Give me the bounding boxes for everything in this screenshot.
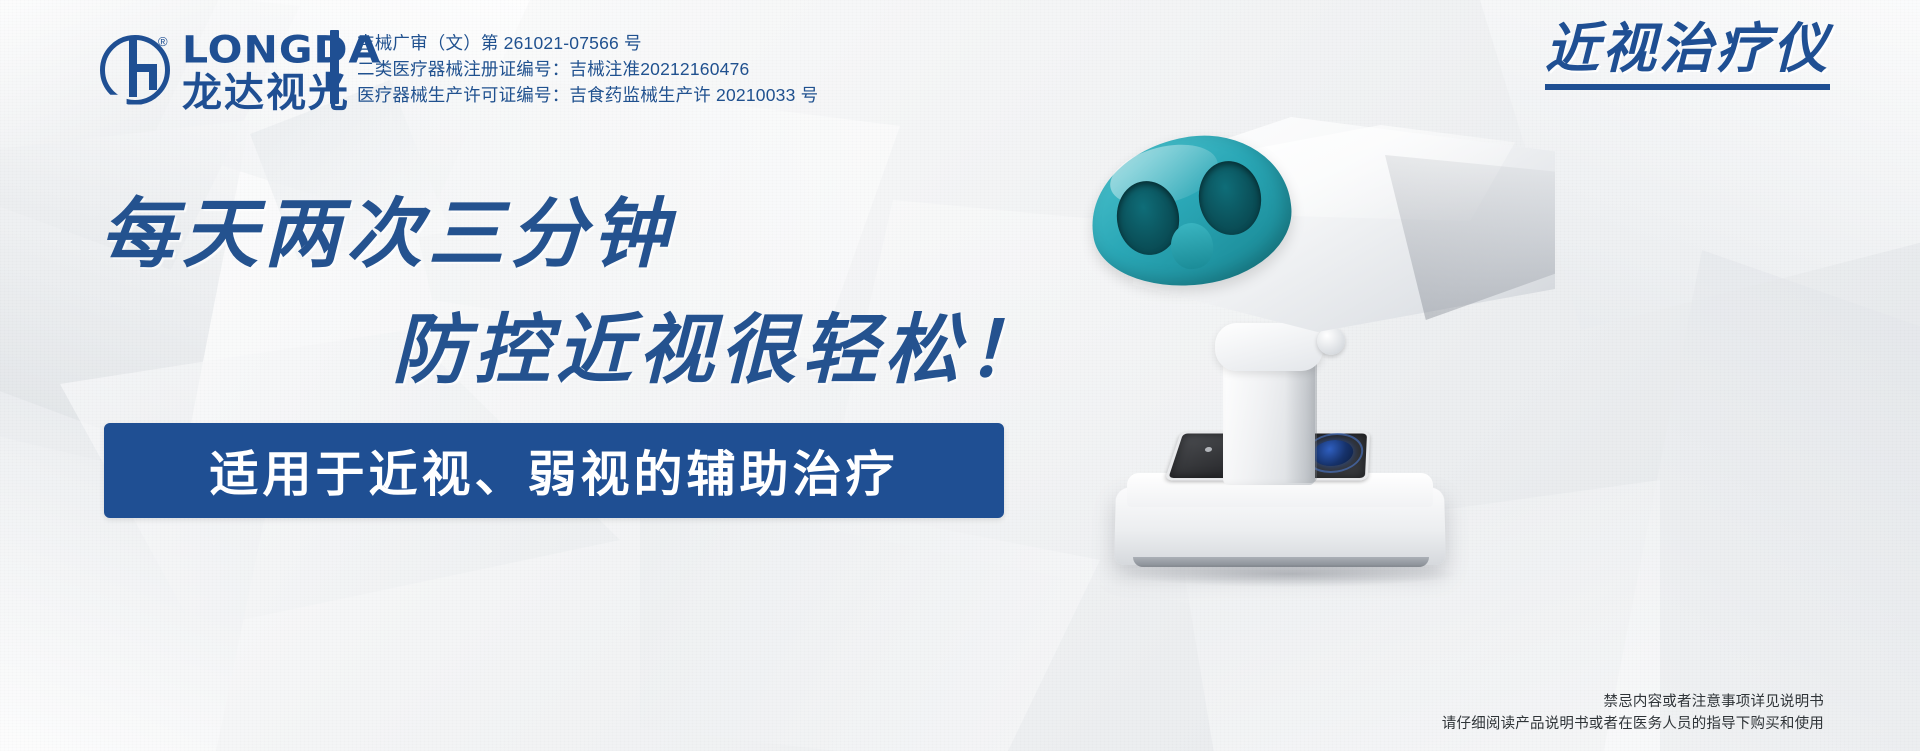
disclaimer-block: 禁忌内容或者注意事项详见说明书 请仔细阅读产品说明书或者在医务人员的指导下购买和… [1442, 691, 1824, 735]
brand-name-latin: LONGDA [182, 31, 381, 69]
brand-name-chinese: 龙达视光 [182, 73, 381, 113]
longda-logo-icon: ® [98, 33, 174, 109]
product-title: 近视治疗仪 [1545, 22, 1830, 76]
headline-line-1: 每天两次三分钟 [100, 172, 674, 282]
advertisement-banner: ® LONGDA 龙达视光 吉械广审（文）第 261021-07566 号 二类… [0, 0, 1920, 751]
disclaimer-line-2: 请仔细阅读产品说明书或者在医务人员的指导下购买和使用 [1442, 713, 1824, 735]
logo-stem-descender [149, 64, 157, 90]
product-title-underline [1545, 84, 1830, 90]
device-tilt-joint [1215, 323, 1323, 371]
product-image-myopia-treatment-device [1055, 95, 1615, 575]
vertical-divider [330, 30, 339, 104]
device-feet [1133, 557, 1429, 567]
brand-wordmark: LONGDA 龙达视光 [182, 28, 381, 113]
indication-banner: 适用于近视、弱视的辅助治疗 [104, 423, 1004, 518]
indication-text: 适用于近视、弱视的辅助治疗 [209, 435, 898, 506]
regulatory-line-registration-no: 二类医疗器械注册证编号：吉械注准20212160476 [357, 56, 818, 82]
headline-line-2: 防控近视很轻松！ [392, 288, 1048, 398]
product-title-block: 近视治疗仪 [1545, 22, 1830, 90]
regulatory-line-ad-approval: 吉械广审（文）第 261021-07566 号 [357, 30, 818, 56]
disclaimer-line-1: 禁忌内容或者注意事项详见说明书 [1442, 691, 1824, 713]
regulatory-line-production-permit: 医疗器械生产许可证编号：吉食药监械生产许 20210033 号 [357, 82, 818, 108]
registered-trademark-icon: ® [158, 35, 168, 48]
regulatory-info-block: 吉械广审（文）第 261021-07566 号 二类医疗器械注册证编号：吉械注准… [357, 30, 818, 108]
